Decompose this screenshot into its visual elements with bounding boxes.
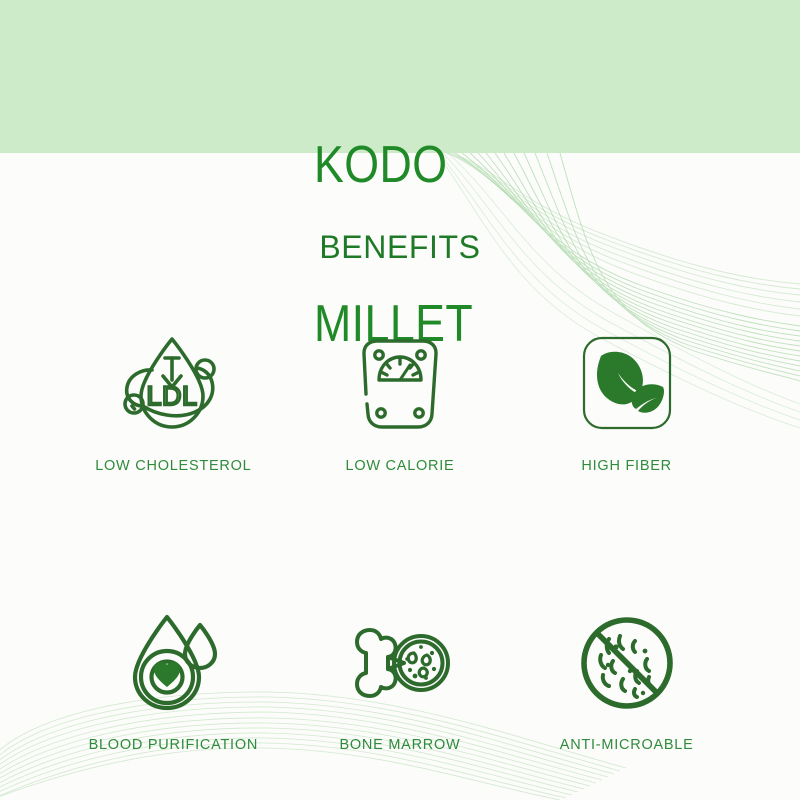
blood-drop-heart-icon bbox=[118, 609, 228, 717]
bone-cells-icon bbox=[345, 609, 455, 717]
benefit-item-bone-marrow: BONE MARROW bbox=[287, 609, 514, 753]
benefit-label: HIGH FIBER bbox=[581, 458, 671, 474]
no-bacteria-icon bbox=[572, 609, 682, 717]
ldl-droplet-icon: LDL bbox=[118, 330, 228, 438]
kodo-millet-benefits-poster: KODO MILLET BENEFITS bbox=[0, 0, 800, 800]
benefit-item-low-calorie: LOW CALORIE bbox=[287, 330, 514, 474]
benefit-item-blood-purification: BLOOD PURIFICATION bbox=[60, 609, 287, 753]
benefits-heading: BENEFITS bbox=[0, 229, 800, 266]
weighing-scale-icon bbox=[345, 330, 455, 438]
benefit-label: BLOOD PURIFICATION bbox=[89, 737, 259, 753]
svg-text:LDL: LDL bbox=[147, 381, 198, 411]
benefit-item-anti-microable: ANTI-MICROABLE bbox=[513, 609, 740, 753]
title-line-1: KODO bbox=[314, 139, 473, 192]
benefits-grid: LDL LOW CHOLESTEROL bbox=[60, 330, 740, 753]
benefit-item-low-cholesterol: LDL LOW CHOLESTEROL bbox=[60, 330, 287, 474]
leaves-icon bbox=[572, 330, 682, 438]
benefit-item-high-fiber: HIGH FIBER bbox=[513, 330, 740, 474]
benefit-label: BONE MARROW bbox=[339, 737, 460, 753]
benefit-label: LOW CALORIE bbox=[346, 458, 455, 474]
benefit-label: ANTI-MICROABLE bbox=[560, 737, 694, 753]
benefit-label: LOW CHOLESTEROL bbox=[95, 458, 251, 474]
